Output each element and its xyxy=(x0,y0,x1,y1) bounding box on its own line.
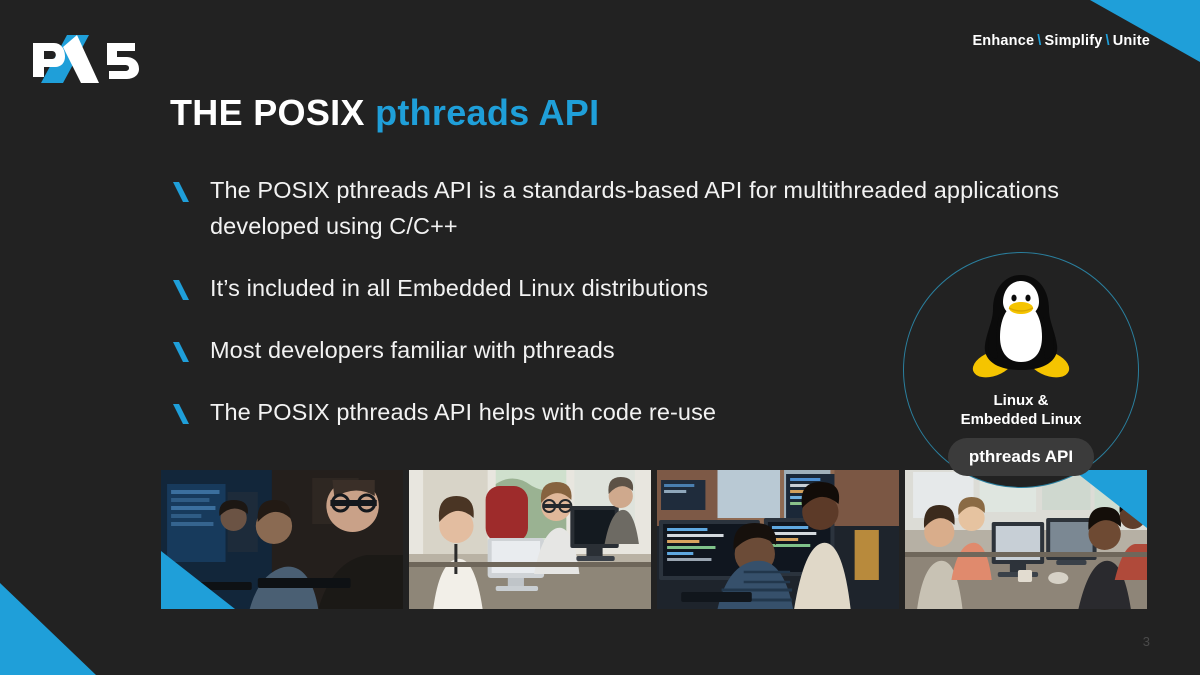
bullet-item: It’s included in all Embedded Linux dist… xyxy=(170,270,910,306)
badge-caption: Linux & Embedded Linux xyxy=(961,391,1082,429)
tagline-word-enhance: Enhance xyxy=(972,33,1034,49)
backslash-bullet-icon xyxy=(172,276,190,300)
tux-penguin-icon xyxy=(969,269,1073,386)
tagline-word-unite: Unite xyxy=(1113,33,1150,49)
badge-caption-line1: Linux & xyxy=(961,391,1082,410)
photo-strip xyxy=(161,470,1147,609)
corner-triangle-bottom-left xyxy=(0,583,96,675)
slide-root: Enhance\Simplify\Unite THE POSIX pthread… xyxy=(0,0,1200,675)
px5-logo xyxy=(27,33,145,85)
page-number: 3 xyxy=(1143,634,1150,649)
backslash-bullet-icon xyxy=(172,178,190,202)
bullet-text: Most developers familiar with pthreads xyxy=(210,337,615,363)
tagline: Enhance\Simplify\Unite xyxy=(972,33,1150,49)
corner-triangle-top-right xyxy=(1090,0,1200,62)
page-title: THE POSIX pthreads API xyxy=(170,92,599,134)
tagline-word-simplify: Simplify xyxy=(1045,33,1103,49)
photo-dual-monitor-developer xyxy=(657,470,899,609)
photo-developers-dark-office xyxy=(161,470,403,609)
tagline-separator-2: \ xyxy=(1106,33,1110,49)
bullet-text: The POSIX pthreads API helps with code r… xyxy=(210,399,716,425)
page-title-main: THE POSIX xyxy=(170,92,365,133)
photo-open-plan-office xyxy=(905,470,1147,609)
bullet-text: The POSIX pthreads API is a standards-ba… xyxy=(210,177,1059,239)
bullet-item: Most developers familiar with pthreads xyxy=(170,332,910,368)
backslash-bullet-icon xyxy=(172,338,190,362)
pthreads-api-pill: pthreads API xyxy=(948,438,1094,476)
bullet-item: The POSIX pthreads API helps with code r… xyxy=(170,394,910,430)
page-title-accent: pthreads API xyxy=(375,92,599,133)
photo-team-window-desks xyxy=(409,470,651,609)
linux-badge: Linux & Embedded Linux pthreads API xyxy=(903,252,1139,488)
badge-caption-line2: Embedded Linux xyxy=(961,410,1082,429)
bullet-text: It’s included in all Embedded Linux dist… xyxy=(210,275,708,301)
bullet-item: The POSIX pthreads API is a standards-ba… xyxy=(170,172,1130,244)
backslash-bullet-icon xyxy=(172,400,190,424)
tagline-separator-1: \ xyxy=(1037,33,1041,49)
